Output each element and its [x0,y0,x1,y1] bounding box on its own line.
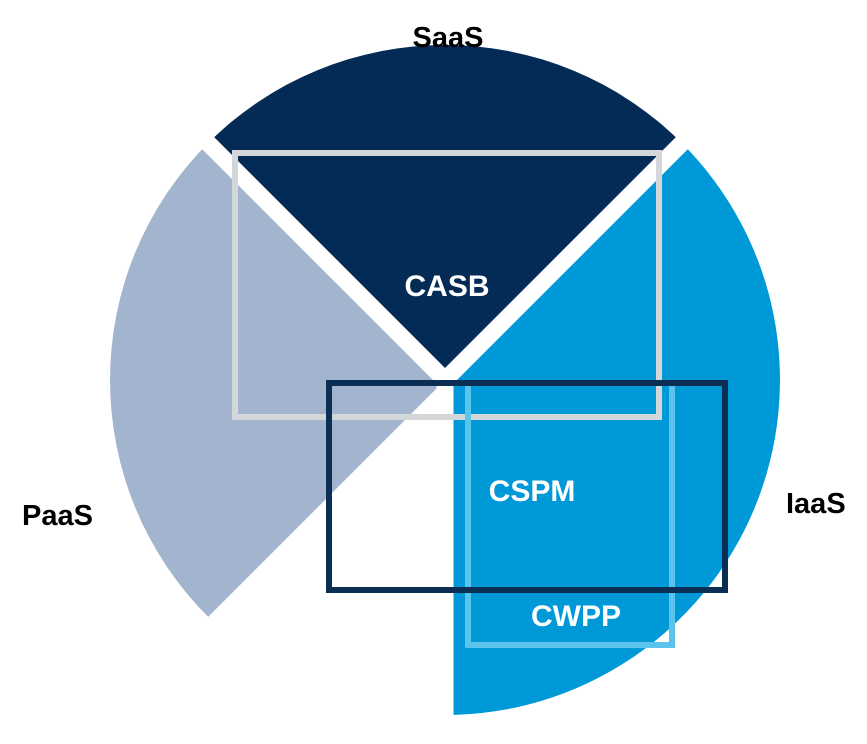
label-saas: SaaS [413,22,484,54]
label-cspm: CSPM [489,475,576,508]
diagram-canvas: SaaS PaaS IaaS CASB CSPM CWPP [0,0,867,744]
label-cwpp: CWPP [531,600,621,633]
label-casb: CASB [404,270,489,303]
label-paas: PaaS [22,500,93,532]
cloud-security-diagram: SaaS PaaS IaaS CASB CSPM CWPP [0,0,867,744]
label-iaas: IaaS [786,488,846,520]
